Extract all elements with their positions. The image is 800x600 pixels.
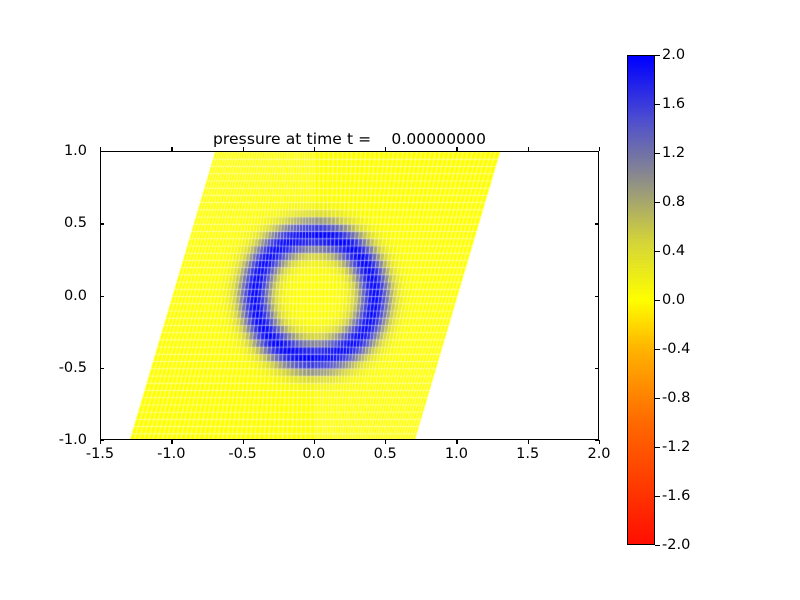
x-tick-label-4: 0.5 [374, 446, 397, 462]
matplotlib-figure: pressure at time t = 0.00000000 -1.5-1.0… [0, 0, 800, 600]
x-tick-5 [456, 440, 457, 444]
colorbar-tick-2 [655, 447, 660, 448]
colorbar-tick-9 [655, 104, 660, 105]
colorbar-gradient [628, 56, 654, 544]
plot-axes [100, 151, 599, 440]
x-tick-top-6 [528, 147, 529, 151]
y-tick-label-4: 1.0 [64, 143, 87, 159]
y-tick-label-1: -0.5 [59, 360, 87, 376]
x-tick-top-2 [243, 147, 244, 151]
x-tick-label-3: 0.0 [302, 446, 325, 462]
colorbar-tick-label-10: 2.0 [662, 47, 685, 63]
colorbar [627, 55, 655, 545]
colorbar-tick-label-6: 0.4 [662, 243, 685, 259]
colorbar-tick-8 [655, 153, 660, 154]
colorbar-tick-label-0: -2.0 [662, 537, 690, 553]
y-tick-label-3: 0.5 [64, 215, 87, 231]
colorbar-tick-5 [655, 300, 660, 301]
x-tick-label-6: 1.5 [516, 446, 539, 462]
y-tick-right-2 [595, 296, 599, 297]
x-tick-label-7: 2.0 [587, 446, 610, 462]
x-tick-6 [528, 440, 529, 444]
y-tick-label-0: -1.0 [59, 432, 87, 448]
x-tick-top-7 [599, 147, 600, 151]
colorbar-tick-4 [655, 349, 660, 350]
y-tick-1 [100, 368, 104, 369]
x-tick-2 [243, 440, 244, 444]
y-tick-right-0 [595, 440, 599, 441]
y-tick-right-3 [595, 223, 599, 224]
y-tick-3 [100, 223, 104, 224]
y-tick-0 [100, 440, 104, 441]
colorbar-tick-label-7: 0.8 [662, 194, 685, 210]
colorbar-tick-7 [655, 202, 660, 203]
x-tick-label-0: -1.5 [86, 446, 114, 462]
x-tick-top-4 [385, 147, 386, 151]
x-tick-4 [385, 440, 386, 444]
colorbar-tick-label-3: -0.8 [662, 390, 690, 406]
x-tick-top-5 [456, 147, 457, 151]
colorbar-tick-label-5: 0.0 [662, 292, 685, 308]
colorbar-tick-3 [655, 398, 660, 399]
colorbar-tick-label-2: -1.2 [662, 439, 690, 455]
colorbar-tick-label-1: -1.6 [662, 488, 690, 504]
x-tick-1 [171, 440, 172, 444]
x-tick-label-1: -1.0 [157, 446, 185, 462]
y-tick-4 [100, 151, 104, 152]
colorbar-tick-6 [655, 251, 660, 252]
pressure-field-heatmap [101, 152, 599, 440]
colorbar-tick-label-9: 1.6 [662, 96, 685, 112]
x-tick-label-2: -0.5 [228, 446, 256, 462]
colorbar-tick-1 [655, 496, 660, 497]
colorbar-tick-label-4: -0.4 [662, 341, 690, 357]
y-tick-label-2: 0.0 [64, 288, 87, 304]
x-tick-top-3 [314, 147, 315, 151]
x-tick-7 [599, 440, 600, 444]
colorbar-tick-0 [655, 545, 660, 546]
x-tick-top-1 [171, 147, 172, 151]
colorbar-tick-10 [655, 55, 660, 56]
page-title: pressure at time t = 0.00000000 [100, 130, 599, 148]
y-tick-2 [100, 296, 104, 297]
y-tick-right-1 [595, 368, 599, 369]
colorbar-tick-label-8: 1.2 [662, 145, 685, 161]
x-tick-3 [314, 440, 315, 444]
y-tick-right-4 [595, 151, 599, 152]
x-tick-label-5: 1.0 [445, 446, 468, 462]
